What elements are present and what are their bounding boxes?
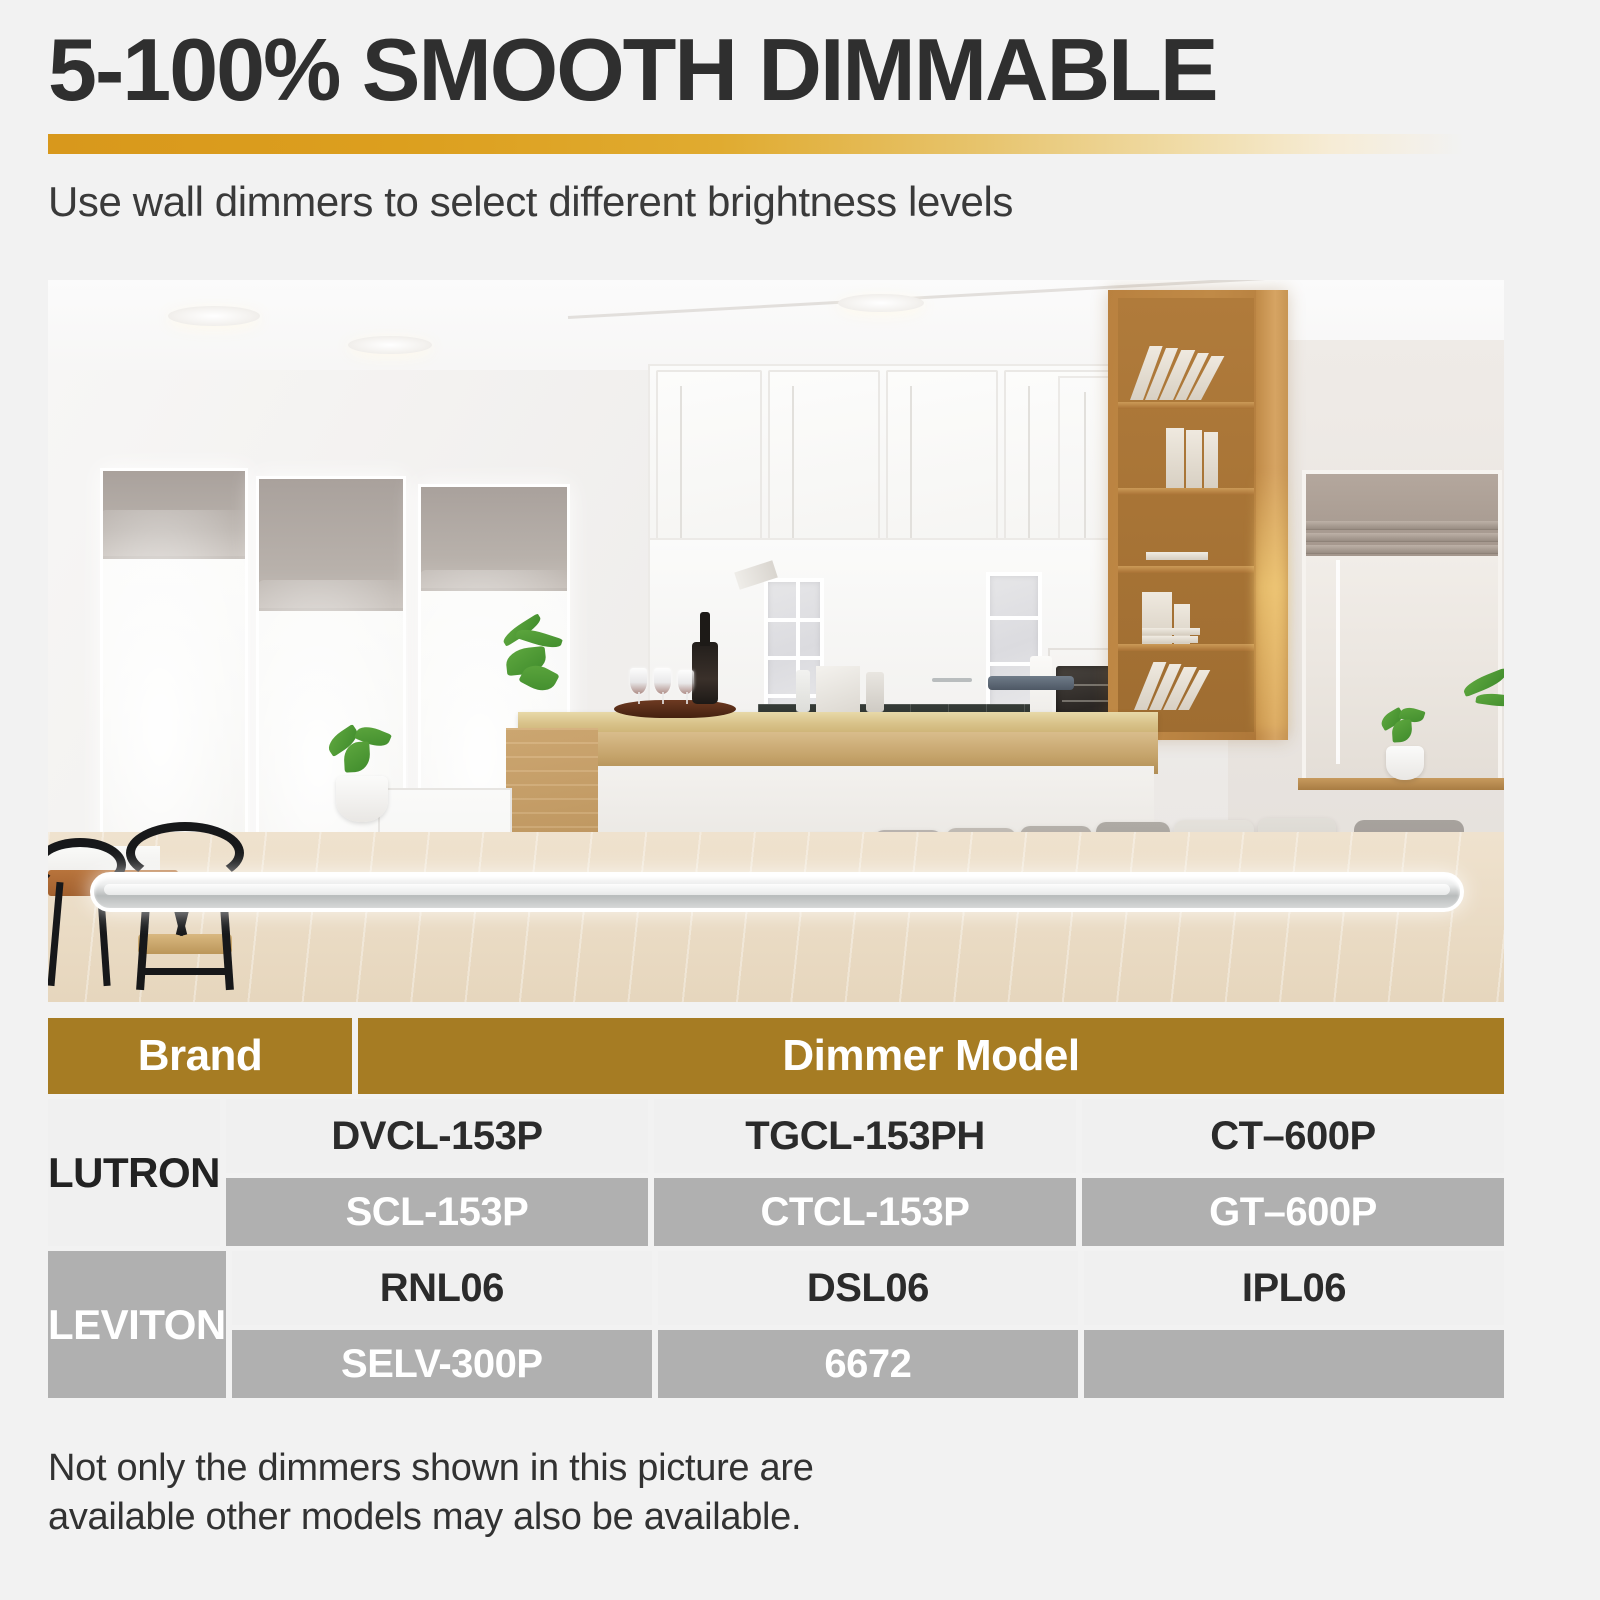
bar-stool [988, 676, 1074, 690]
model-cell: IPL06 [1084, 1251, 1504, 1325]
shelf-plank [1118, 566, 1254, 573]
roman-shade-fold [1306, 545, 1498, 554]
book [1186, 430, 1202, 488]
model-cell: CT–600P [1082, 1099, 1504, 1173]
mullion [768, 618, 820, 622]
chair-leg [48, 882, 64, 986]
model-cell: TGCL-153PH [654, 1099, 1076, 1173]
table-header-row: Brand Dimmer Model [48, 1018, 1504, 1094]
column-header-model: Dimmer Model [358, 1018, 1504, 1094]
page-subtitle: Use wall dimmers to select different bri… [48, 178, 1552, 226]
wood-floor [48, 832, 1504, 1002]
footnote-line-2: available other models may also be avail… [48, 1493, 1148, 1542]
shelf-plank [1118, 488, 1254, 495]
wine-glass [654, 668, 671, 694]
wine-glass [678, 670, 694, 694]
wine-glass [630, 668, 647, 694]
model-cell: SCL-153P [226, 1178, 648, 1246]
shelf-plank [1118, 402, 1254, 409]
dimmer-compatibility-table: Brand Dimmer Model LUTRON DVCL-153P TGCL… [48, 1018, 1504, 1398]
column-header-brand: Brand [48, 1018, 352, 1094]
brand-cell-lutron: LUTRON [48, 1099, 220, 1246]
serving-tray [614, 700, 736, 718]
shelf-interior [1118, 298, 1254, 732]
mullion [990, 616, 1038, 620]
book-flat [1146, 552, 1208, 560]
faucet [932, 678, 972, 682]
plant-pot [1386, 746, 1424, 780]
model-cell: SELV-300P [232, 1330, 652, 1398]
table-row: LUTRON DVCL-153P TGCL-153PH CT–600P SCL-… [48, 1099, 1504, 1246]
wine-bottle [692, 642, 718, 704]
roman-shade-fold [1306, 533, 1498, 542]
warm-light-glow [1254, 470, 1288, 730]
mullion [768, 694, 820, 698]
brand-cell-leviton: LEVITON [48, 1251, 226, 1398]
chair-seat [138, 934, 232, 954]
model-cell: DSL06 [658, 1251, 1078, 1325]
book-stack [1166, 426, 1218, 488]
paper-bag [816, 666, 860, 712]
wine-glass-stem [686, 692, 688, 704]
downlight-icon [838, 294, 924, 312]
book-stack [1134, 658, 1189, 710]
header: 5-100% SMOOTH DIMMABLE Use wall dimmers … [48, 26, 1552, 226]
accent-divider [48, 134, 1508, 154]
roller-shade [103, 471, 245, 559]
roller-shade [259, 479, 403, 611]
model-cell-empty [1084, 1330, 1504, 1398]
book-stack [1130, 342, 1201, 400]
footnote: Not only the dimmers shown in this pictu… [48, 1444, 1148, 1541]
downlight-icon [348, 336, 432, 354]
light-strip-core [104, 884, 1450, 895]
book [1166, 428, 1184, 488]
roman-shade [1306, 474, 1498, 556]
wine-glass-stem [662, 692, 664, 704]
model-cell: GT–600P [1082, 1178, 1504, 1246]
kitchen-living-scene [48, 280, 1504, 1002]
wine-glass-stem [638, 692, 640, 704]
model-cell: RNL06 [232, 1251, 652, 1325]
page-title: 5-100% SMOOTH DIMMABLE [48, 26, 1552, 114]
window-frame-bar [1336, 560, 1340, 764]
dimmable-light-strip[interactable] [90, 872, 1464, 912]
chair-stretcher [142, 968, 232, 975]
roman-shade-fold [1306, 521, 1498, 530]
table-row: LEVITON RNL06 DSL06 IPL06 SELV-300P 6672 [48, 1251, 1504, 1398]
downlight-icon [168, 306, 260, 326]
footnote-line-1: Not only the dimmers shown in this pictu… [48, 1444, 1148, 1493]
book-flat [1142, 636, 1198, 643]
book [1204, 432, 1218, 488]
book-flat [1142, 628, 1200, 635]
mullion [768, 656, 820, 660]
bottle-small [796, 670, 810, 712]
wine-bottle-neck [700, 612, 710, 646]
roller-shade [421, 487, 567, 591]
model-cell: DVCL-153P [226, 1099, 648, 1173]
shelf-plank [1118, 644, 1254, 651]
model-cell: 6672 [658, 1330, 1078, 1398]
canister [866, 672, 884, 712]
plant-pot [336, 776, 388, 822]
interior-photo [48, 280, 1504, 1002]
model-cell: CTCL-153P [654, 1178, 1076, 1246]
